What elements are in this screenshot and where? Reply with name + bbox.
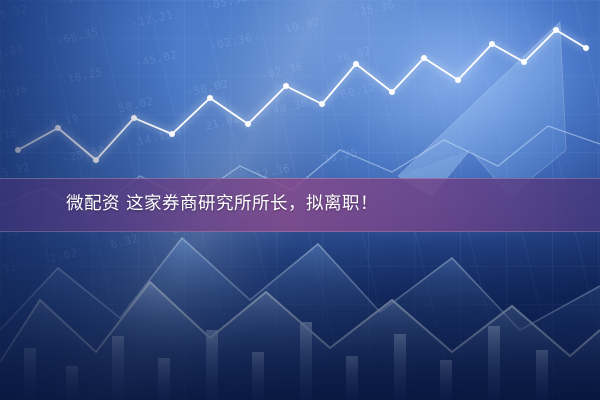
background-bottom-vignette [0,210,600,400]
data-point [245,121,251,127]
data-point [389,89,395,95]
data-point [489,41,495,47]
image-canvas: -65.32 -20.36 -24.35 -11.25 45.02 81.32 … [0,0,600,400]
data-point [319,101,325,107]
data-point [353,61,359,67]
data-point [455,77,461,83]
headline-band: 微配资 这家券商研究所所长，拟离职！ [0,178,600,232]
data-point [583,45,589,51]
data-point [521,59,527,65]
data-point [553,27,559,33]
data-point [421,55,427,61]
headline-text: 微配资 这家券商研究所所长，拟离职！ [66,196,378,214]
data-point [207,95,213,101]
data-point [283,83,289,89]
